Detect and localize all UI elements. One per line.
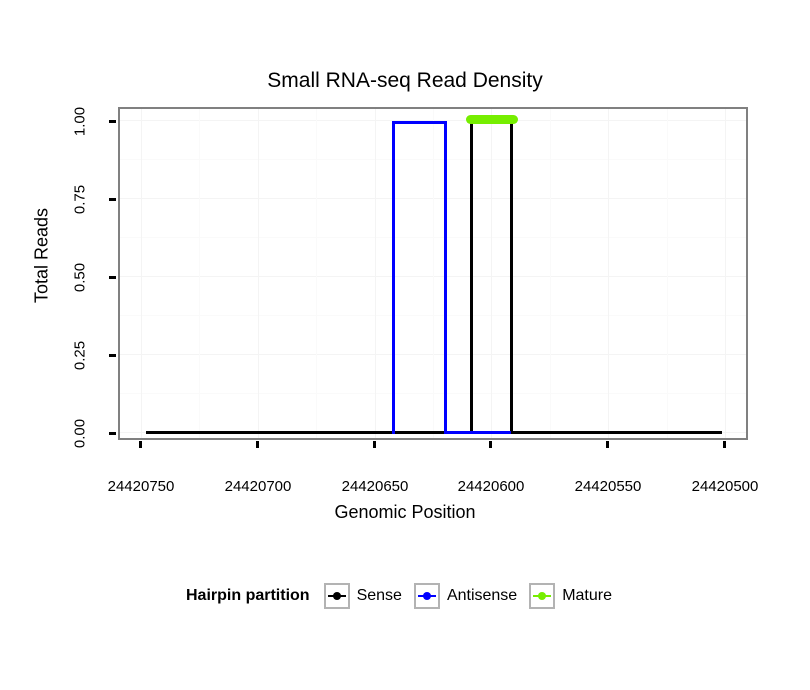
x-tick-mark-24420600 <box>489 441 492 448</box>
series-sense-baseline-right <box>510 431 722 434</box>
x-tick-mark-24420750 <box>139 441 142 448</box>
x-tick-label-24420750: 24420750 <box>76 478 206 495</box>
gridline-x-minor-24420625 <box>433 109 434 438</box>
gridline-x-24420750 <box>141 109 142 438</box>
gridline-x-minor-24420575 <box>550 109 551 438</box>
y-tick-label-0.25: 0.25 <box>72 333 89 379</box>
legend-key-sense-icon <box>324 583 350 609</box>
y-tick-label-0.00: 0.00 <box>72 411 89 457</box>
legend-entry-antisense[interactable]: Antisense <box>414 583 517 609</box>
chart-legend: Hairpin partition Sense Antisense Mature <box>0 583 810 609</box>
gridline-x-24420600 <box>491 109 492 438</box>
y-tick-label-0.75: 0.75 <box>72 177 89 223</box>
x-tick-mark-24420550 <box>606 441 609 448</box>
series-antisense-peak-top <box>392 121 447 124</box>
x-tick-mark-24420500 <box>723 441 726 448</box>
y-tick-mark-0.50 <box>109 276 116 279</box>
legend-label-antisense: Antisense <box>447 587 517 605</box>
x-tick-label-24420500: 24420500 <box>660 478 790 495</box>
gridline-x-minor-24420725 <box>199 109 200 438</box>
page-title: Small RNA-seq Read Density <box>0 68 810 93</box>
gridline-x-24420650 <box>375 109 376 438</box>
legend-key-antisense-icon <box>414 583 440 609</box>
x-tick-label-24420650: 24420650 <box>310 478 440 495</box>
y-tick-mark-0.00 <box>109 432 116 435</box>
series-antisense-rise-edge <box>392 121 395 434</box>
x-tick-label-24420550: 24420550 <box>543 478 673 495</box>
series-sense-fall-edge <box>510 121 513 434</box>
gridline-x-24420500 <box>725 109 726 438</box>
legend-entry-mature[interactable]: Mature <box>529 583 612 609</box>
legend-key-mature-icon <box>529 583 555 609</box>
legend-title: Hairpin partition <box>186 587 310 605</box>
x-axis-title: Genomic Position <box>0 502 810 523</box>
x-tick-label-24420600: 24420600 <box>426 478 556 495</box>
x-tick-label-24420700: 24420700 <box>193 478 323 495</box>
series-sense-rise-edge <box>470 121 473 434</box>
y-axis-title: Total Reads <box>32 181 53 331</box>
y-tick-mark-0.25 <box>109 354 116 357</box>
series-sense-baseline-left <box>146 431 472 434</box>
gridline-x-minor-24420525 <box>667 109 668 438</box>
plot-panel <box>118 107 748 440</box>
x-tick-mark-24420650 <box>373 441 376 448</box>
gridline-x-minor-24420675 <box>316 109 317 438</box>
gridline-x-24420550 <box>608 109 609 438</box>
legend-label-sense: Sense <box>357 587 402 605</box>
chart-figure: Small RNA-seq Read Density 1.00 0.75 0.5… <box>0 0 810 690</box>
plot-area <box>120 109 746 438</box>
x-tick-mark-24420700 <box>256 441 259 448</box>
gridline-x-24420700 <box>258 109 259 438</box>
y-tick-label-0.50: 0.50 <box>72 255 89 301</box>
y-tick-mark-1.00 <box>109 120 116 123</box>
series-mature-bar <box>466 115 518 124</box>
y-tick-label-1.00: 1.00 <box>72 99 89 145</box>
legend-label-mature: Mature <box>562 587 612 605</box>
legend-entry-sense[interactable]: Sense <box>324 583 402 609</box>
series-antisense-fall-edge <box>444 121 447 434</box>
y-tick-mark-0.75 <box>109 198 116 201</box>
series-antisense-baseline <box>444 431 511 434</box>
